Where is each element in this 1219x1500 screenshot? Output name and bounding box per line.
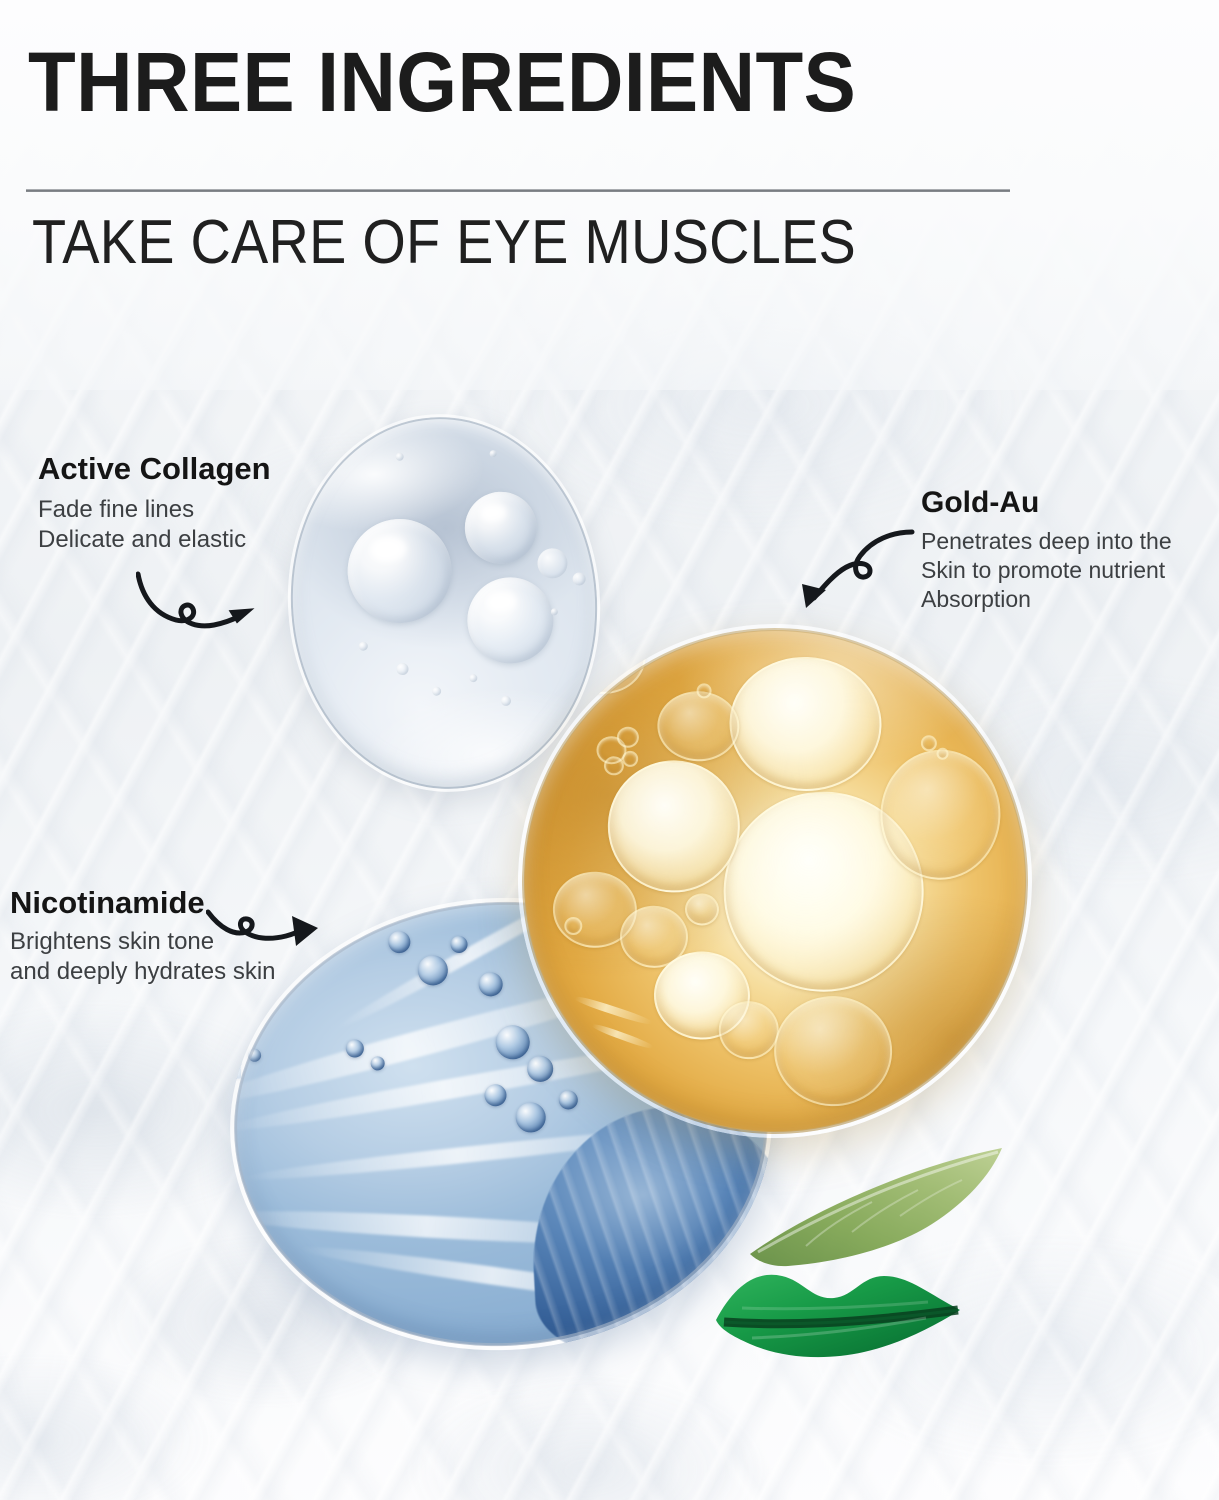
ingredient-desc-active-collagen: Fade fine lines Delicate and elastic	[38, 495, 271, 555]
curly-arrow-down-right-icon	[206, 898, 326, 981]
page-subtitle: TAKE CARE OF EYE MUSCLES	[32, 212, 856, 274]
ingredient-name-active-collagen: Active Collagen	[38, 450, 271, 488]
ingredient-gold-au: Gold-Au Penetrates deep into the Skin to…	[921, 484, 1172, 614]
ingredient-desc-gold-au: Penetrates deep into the Skin to promote…	[921, 527, 1172, 614]
ingredient-active-collagen: Active Collagen Fade fine lines Delicate…	[38, 450, 271, 555]
header-divider	[26, 189, 1010, 192]
page-title: THREE INGREDIENTS	[28, 40, 856, 124]
curly-arrow-left-icon	[786, 528, 916, 623]
ingredient-name-gold-au: Gold-Au	[921, 484, 1172, 521]
curly-arrow-right-icon	[136, 566, 276, 651]
leaf-lower	[712, 1214, 982, 1379]
ingredient-desc-line: Absorption	[921, 585, 1172, 614]
ingredient-desc-line: Penetrates deep into the	[921, 527, 1172, 556]
ingredient-desc-line: Skin to promote nutrient	[921, 556, 1172, 585]
ingredient-desc-line: Fade fine lines	[38, 495, 271, 525]
ingredient-desc-line: Delicate and elastic	[38, 525, 271, 555]
infographic-page: THREE INGREDIENTS TAKE CARE OF EYE MUSCL…	[0, 0, 1219, 1500]
